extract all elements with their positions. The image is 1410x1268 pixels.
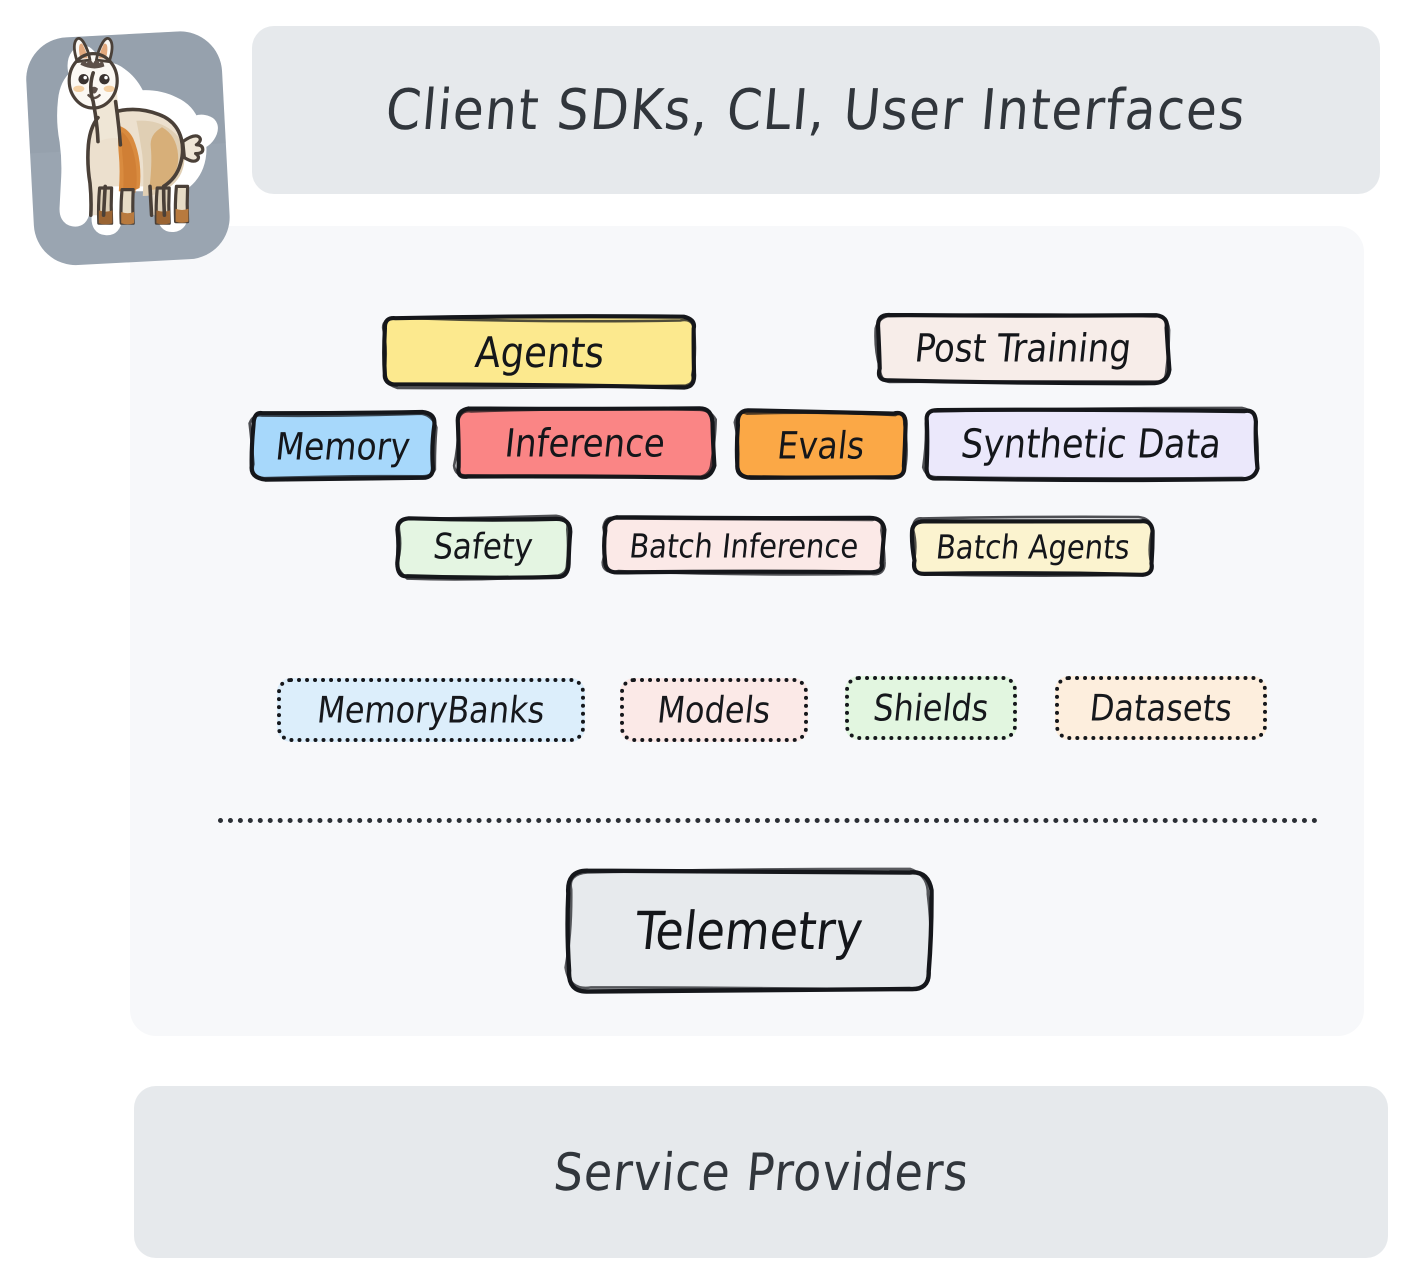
node-evals[interactable]: Evals bbox=[737, 412, 905, 478]
node-inference[interactable]: Inference bbox=[457, 410, 713, 478]
section-divider bbox=[218, 818, 1318, 823]
node-telemetry-label: Telemetry bbox=[561, 864, 937, 999]
node-memory-label: Memory bbox=[248, 408, 438, 483]
node-safety-label: Safety bbox=[394, 514, 573, 580]
node-batch-inference-label: Batch Inference bbox=[602, 514, 887, 578]
node-synthetic-data-label: Synthetic Data bbox=[922, 405, 1260, 485]
node-models[interactable]: Models bbox=[620, 678, 808, 742]
footer-title: Service Providers bbox=[551, 1142, 971, 1202]
node-telemetry[interactable]: Telemetry bbox=[568, 872, 930, 990]
node-memory-banks-label: MemoryBanks bbox=[273, 674, 589, 747]
node-batch-agents-label: Batch Agents bbox=[910, 516, 1156, 578]
node-safety[interactable]: Safety bbox=[397, 518, 569, 576]
node-shields[interactable]: Shields bbox=[845, 676, 1017, 740]
node-post-training[interactable]: Post Training bbox=[878, 316, 1168, 382]
node-memory[interactable]: Memory bbox=[252, 413, 434, 479]
node-post-training-label: Post Training bbox=[874, 311, 1172, 386]
page-title: Client SDKs, CLI, User Interfaces bbox=[383, 78, 1249, 143]
node-memory-banks[interactable]: MemoryBanks bbox=[277, 678, 585, 742]
node-batch-inference[interactable]: Batch Inference bbox=[605, 518, 883, 574]
header-bar: Client SDKs, CLI, User Interfaces bbox=[252, 26, 1380, 194]
node-shields-label: Shields bbox=[841, 672, 1021, 745]
node-inference-label: Inference bbox=[453, 405, 717, 483]
llama-logo bbox=[24, 24, 242, 274]
node-agents-label: Agents bbox=[381, 313, 699, 391]
node-datasets[interactable]: Datasets bbox=[1055, 676, 1267, 740]
node-datasets-label: Datasets bbox=[1051, 672, 1271, 745]
node-synthetic-data[interactable]: Synthetic Data bbox=[926, 410, 1256, 480]
node-evals-label: Evals bbox=[733, 407, 909, 482]
node-batch-agents[interactable]: Batch Agents bbox=[913, 520, 1153, 574]
node-models-label: Models bbox=[616, 674, 812, 747]
footer-bar: Service Providers bbox=[134, 1086, 1388, 1258]
node-agents[interactable]: Agents bbox=[385, 318, 695, 386]
